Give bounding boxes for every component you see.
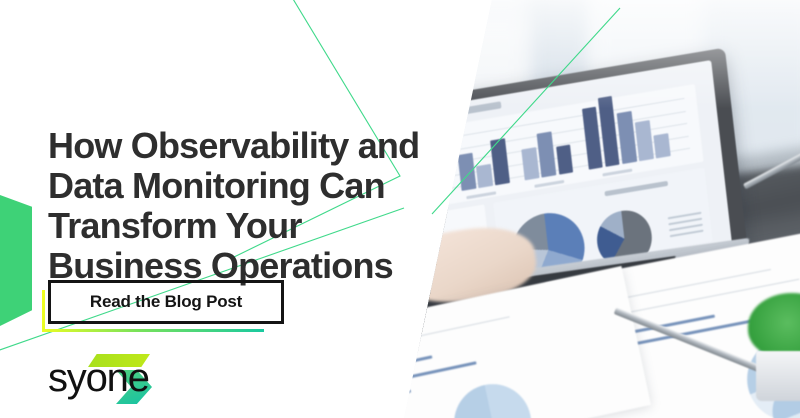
cta-container: Read the Blog Post: [48, 280, 284, 324]
syone-logo[interactable]: syone: [48, 352, 198, 400]
left-green-accent-shape: [0, 195, 32, 326]
read-the-blog-post-button[interactable]: Read the Blog Post: [48, 280, 284, 324]
plant-pot: [756, 351, 800, 401]
headline-line-1: How Observability and: [48, 126, 428, 166]
background-blur-band: [416, 17, 528, 92]
headline-line-2: Data Monitoring Can: [48, 166, 428, 206]
headline-line-3: Transform Your: [48, 206, 428, 246]
marketing-banner: How Observability and Data Monitoring Ca…: [0, 0, 800, 418]
logo-wordmark: syone: [48, 356, 149, 400]
page-title: How Observability and Data Monitoring Ca…: [48, 126, 428, 286]
